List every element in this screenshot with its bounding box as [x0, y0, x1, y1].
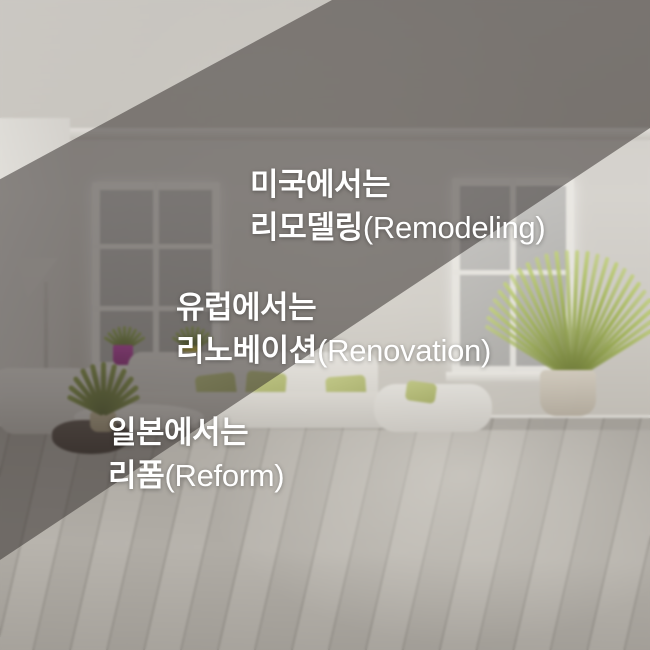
us-term: 리모델링(Remodeling): [250, 210, 545, 247]
eu-region-label: 유럽에서는: [176, 290, 491, 327]
text-block-eu: 유럽에서는 리노베이션(Renovation): [176, 290, 491, 369]
image-canvas: 미국에서는 리모델링(Remodeling) 유럽에서는 리노베이션(Renov…: [0, 0, 650, 650]
jp-region-label: 일본에서는: [108, 415, 284, 452]
eu-term-english: (Renovation): [317, 333, 491, 368]
text-block-jp: 일본에서는 리폼(Reform): [108, 415, 284, 494]
text-block-us: 미국에서는 리모델링(Remodeling): [250, 167, 545, 246]
us-term-korean: 리모델링: [250, 210, 363, 245]
eu-term-korean: 리노베이션: [176, 333, 317, 368]
jp-term-korean: 리폼: [108, 458, 164, 493]
eu-term: 리노베이션(Renovation): [176, 333, 491, 370]
us-region-label: 미국에서는: [250, 167, 545, 204]
jp-term: 리폼(Reform): [108, 458, 284, 495]
us-term-english: (Remodeling): [363, 210, 545, 245]
overlay-text-stack: 미국에서는 리모델링(Remodeling) 유럽에서는 리노베이션(Renov…: [0, 0, 650, 650]
jp-term-english: (Reform): [164, 458, 284, 493]
